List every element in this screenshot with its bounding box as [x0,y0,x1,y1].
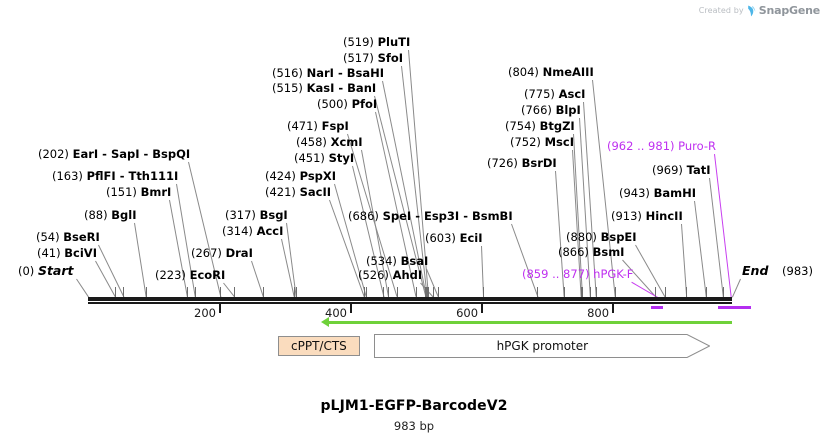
enzyme-label[interactable]: (517) SfoI [343,52,403,64]
leader-line [694,201,707,297]
restriction-site-tick [590,287,591,297]
name-separator: - [411,209,424,223]
snapgene-watermark: Created by SnapGene [699,4,820,17]
enzyme-label[interactable]: (766) BlpI [521,104,581,116]
restriction-site-tick [263,287,264,297]
enzyme-label[interactable]: (880) BspEI [566,231,637,243]
restriction-site-tick [115,287,116,297]
leader-line [732,279,741,297]
site-name: PluTI [378,35,411,49]
site-position: (880) [566,230,601,244]
enzyme-label[interactable]: (726) BsrDI [487,157,557,169]
site-position: (500) [317,97,352,111]
site-name: EarI [73,147,99,161]
restriction-site-tick [723,287,724,297]
site-name: BlpI [556,103,581,117]
snapgene-plasmid-logo-icon [747,5,756,17]
site-position: (223) [155,268,190,282]
site-name: HincII [646,209,683,223]
backbone-strand-top [88,297,732,301]
enzyme-label[interactable]: (151) BmrI [106,186,171,198]
restriction-site-tick [615,287,616,297]
enzyme-label[interactable]: (516) NarI - BsaHI [272,67,384,79]
restriction-site-tick [123,287,124,297]
site-name: Tth111I [128,169,178,183]
site-name: BanI [347,81,376,95]
sequence-start-label: (0) Start [18,265,74,277]
site-position: (88) [84,208,111,222]
site-position: (267) [191,246,226,260]
restriction-site-tick [665,287,666,297]
site-name: AhdI [393,268,423,282]
site-position: (943) [619,186,654,200]
site-position: (202) [38,147,73,161]
site-name: FspI [322,119,349,133]
leader-line [592,80,616,297]
enzyme-label[interactable]: (471) FspI [287,120,349,132]
enzyme-label[interactable]: (458) XcmI [296,136,363,148]
restriction-site-tick [483,287,484,297]
ruler-tick [219,304,221,313]
puro-r-feature-bar [718,306,750,309]
restriction-site-tick [416,287,417,297]
site-position: (969) [652,163,687,177]
site-position: (526) [358,268,393,282]
ruler-tick [612,304,614,313]
site-name: BtgZI [540,119,575,133]
sequence-end-label: End (983) [742,265,813,277]
site-position: (752) [510,135,545,149]
site-name: BsrDI [522,156,557,170]
site-name: BspQI [152,147,190,161]
enzyme-label[interactable]: (88) BglI [84,209,136,221]
site-position: (458) [296,135,331,149]
site-name: AscI [559,87,586,101]
site-name: KasI [307,81,335,95]
site-position: (516) [272,66,307,80]
feature-arrow-hpgk-promoter[interactable]: hPGK promoter [374,334,710,358]
enzyme-label[interactable]: (526) AhdI [358,269,422,281]
restriction-site-tick [686,287,687,297]
enzyme-label[interactable]: (603) EciI [425,232,483,244]
enzyme-label[interactable]: (421) SacII [265,186,331,198]
site-position: (517) [343,51,378,65]
enzyme-label[interactable]: (943) BamHI [619,187,696,199]
site-position: (314) [222,224,257,238]
site-name: StyI [329,151,355,165]
restriction-site-tick [706,287,707,297]
restriction-site-tick [195,287,196,297]
enzyme-label[interactable]: (500) PfoI [317,98,377,110]
green-arrowhead-left-icon [321,317,329,327]
site-name: PflFI [87,169,116,183]
site-position: (163) [52,169,87,183]
site-name: BseRI [63,230,100,244]
name-separator: - [334,66,347,80]
enzyme-label[interactable]: (913) HincII [611,210,683,222]
site-name: EcoRI [190,268,226,282]
enzyme-label[interactable]: (202) EarI - SapI - BspQI [38,148,190,160]
site-name: PfoI [352,97,378,111]
site-position: (519) [343,35,378,49]
site-position: (603) [425,231,460,245]
site-position: (41) [37,246,64,260]
plasmid-map: Created by SnapGene (202) EarI - SapI - … [0,0,828,438]
ruler-tick [350,304,352,313]
start-position: (0) [18,264,38,278]
site-position: (775) [524,87,559,101]
site-name: AccI [257,224,284,238]
enzyme-label[interactable]: (54) BseRI [36,231,100,243]
restriction-site-tick [438,287,439,297]
green-orientation-line [329,321,732,324]
end-name: End [742,263,768,278]
site-name: DraI [226,246,253,260]
site-name: Esp3I [424,209,459,223]
site-name: SpeI [383,209,412,223]
restriction-site-tick [537,287,538,297]
enzyme-label[interactable]: (754) BtgZI [505,120,575,132]
restriction-site-tick [596,287,597,297]
enzyme-label[interactable]: (317) BsgI [225,209,288,221]
ruler-tick-label: 200 [194,306,216,320]
site-name: BmrI [141,185,172,199]
restriction-site-tick [428,287,429,297]
end-position: (983) [782,264,813,278]
restriction-site-tick [366,287,367,297]
site-name: SfoI [378,51,403,65]
restriction-site-tick [582,287,583,297]
restriction-site-tick [296,287,297,297]
site-name: BsmBI [472,209,513,223]
site-name: EciI [460,231,483,245]
site-name: MscI [545,135,574,149]
site-position: (726) [487,156,522,170]
site-name: BsaHI [347,66,384,80]
enzyme-label[interactable]: (41) BciVI [37,247,97,259]
site-position: (515) [272,81,307,95]
site-position: (534) [366,254,401,268]
site-name: SapI [111,147,140,161]
site-name: BspEI [601,230,637,244]
site-position: (54) [36,230,63,244]
site-position: (471) [287,119,322,133]
feature-label[interactable]: (859 .. 877) hPGK-F [522,268,633,280]
restriction-site-tick [397,287,398,297]
enzyme-label[interactable]: (804) NmeAIII [508,66,594,78]
restriction-site-tick [364,287,365,297]
site-position: (804) [508,65,543,79]
leader-line [95,261,116,297]
enzyme-label[interactable]: (314) AccI [222,225,283,237]
site-name: BsgI [260,208,288,222]
feature-arrow-label: hPGK promoter [374,334,710,358]
restriction-site-tick [220,287,221,297]
site-name: SacII [300,185,331,199]
enzyme-label[interactable]: (163) PflFI - Tth111I [52,170,178,182]
site-name: hPGK-F [593,267,633,281]
site-name: NmeAIII [543,65,594,79]
enzyme-label[interactable]: (775) AscI [524,88,585,100]
enzyme-label[interactable]: (515) KasI - BanI [272,82,376,94]
watermark-created-by-label: Created by [699,6,744,15]
site-position: (686) [348,209,383,223]
site-position: (151) [106,185,141,199]
watermark-brand-label: SnapGene [759,4,820,17]
leader-line [169,200,188,297]
site-name: NarI [307,66,334,80]
backbone-strand-bottom [88,302,732,304]
name-separator: - [334,81,347,95]
leader-line [709,178,724,297]
restriction-site-tick [388,287,389,297]
enzyme-label[interactable]: (223) EcoRI [155,269,225,281]
site-name: XcmI [331,135,363,149]
enzyme-label[interactable]: (969) TatI [652,164,711,176]
site-name: PspXI [300,169,336,183]
start-name: Start [38,263,74,278]
restriction-site-tick [655,287,656,297]
enzyme-label[interactable]: (534) BsaI [366,255,428,267]
site-name: TatI [687,163,711,177]
restriction-site-tick [294,287,295,297]
site-position: (424) [265,169,300,183]
name-separator: - [116,169,129,183]
leader-line [76,279,89,298]
site-position: (766) [521,103,556,117]
name-separator: - [459,209,472,223]
leader-line [511,224,538,297]
plasmid-length-label: 983 bp [0,419,828,433]
feature-box-cppt-cts[interactable]: cPPT/CTS [278,336,360,356]
site-position: (317) [225,208,260,222]
site-position: (913) [611,209,646,223]
site-name: BamHI [654,186,696,200]
site-position: (866) [558,245,593,259]
site-name: BciVI [64,246,97,260]
ruler-tick [481,304,483,313]
name-separator: - [140,147,153,161]
leader-line [714,154,732,297]
site-name: BsaI [401,254,429,268]
site-position: (451) [294,151,329,165]
restriction-site-tick [564,287,565,297]
enzyme-label[interactable]: (752) MscI [510,136,574,148]
restriction-site-tick [234,287,235,297]
restriction-site-tick [187,287,188,297]
enzyme-label[interactable]: (686) SpeI - Esp3I - BsmBI [348,210,513,222]
restriction-site-tick [433,287,434,297]
site-position: (859 .. 877) [522,267,593,281]
site-position: (754) [505,119,540,133]
enzyme-label[interactable]: (451) StyI [294,152,354,164]
feature-label[interactable]: (962 .. 981) Puro-R [607,140,716,152]
enzyme-label[interactable]: (267) DraI [191,247,253,259]
leader-line [134,223,147,297]
ruler-tick-label: 600 [456,306,478,320]
restriction-site-tick [383,287,384,297]
site-position: (421) [265,185,300,199]
site-name: BglI [111,208,136,222]
enzyme-label[interactable]: (424) PspXI [265,170,336,182]
restriction-site-tick [146,287,147,297]
site-position: (962 .. 981) [607,139,678,153]
site-name: BsmI [593,245,625,259]
hpgk-f-feature-bar [651,306,663,309]
page-title: pLJM1-EGFP-BarcodeV2 [0,398,828,414]
site-name: Puro-R [678,139,716,153]
ruler-tick-label: 800 [587,306,609,320]
enzyme-label[interactable]: (866) BsmI [558,246,624,258]
name-separator: - [98,147,111,161]
enzyme-label[interactable]: (519) PluTI [343,36,410,48]
